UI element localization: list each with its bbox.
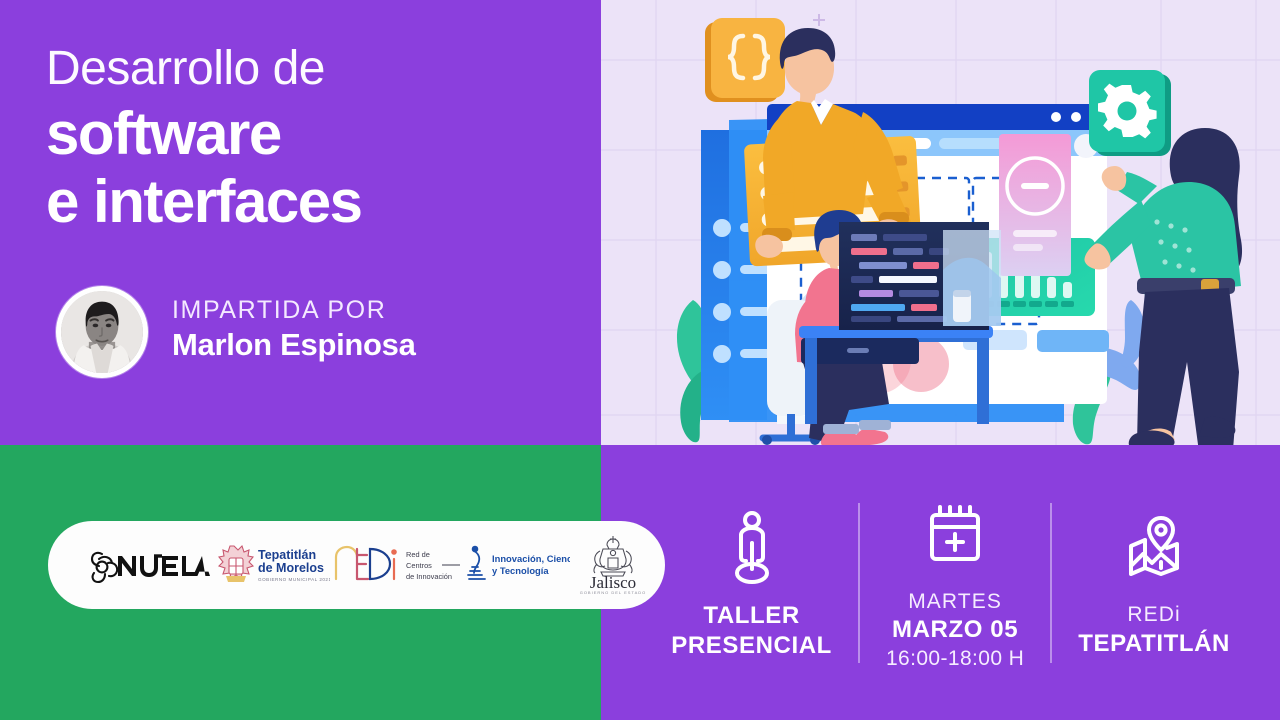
svg-text:Innovación, Ciencia: Innovación, Ciencia — [492, 553, 570, 564]
svg-text:GOBIERNO DEL ESTADO: GOBIERNO DEL ESTADO — [580, 590, 647, 595]
headline-line-2: software — [46, 100, 586, 167]
detail-date: MARTES MARZO 05 16:00-18:00 H — [860, 493, 1050, 673]
svg-text:Red de: Red de — [406, 550, 430, 559]
detail-date-text: MARTES MARZO 05 16:00-18:00 H — [886, 589, 1024, 673]
logo-innovacion-ciencia-tecnologia: Innovación, Ciencia y Tecnología — [462, 545, 570, 585]
detail-modality: TALLER PRESENCIAL — [645, 505, 858, 661]
avatar-photo — [61, 291, 143, 373]
logo-jalisco: Jalisco GOBIERNO DEL ESTADO — [570, 534, 656, 596]
detail-location-city: TEPATITLÁN — [1078, 629, 1230, 659]
event-poster: Desarrollo de software e interfaces — [0, 0, 1280, 720]
map-pin-icon — [1123, 506, 1185, 592]
headline-block: Desarrollo de software e interfaces — [46, 44, 586, 235]
presenter-name: Marlon Espinosa — [172, 326, 416, 365]
presenter-text: IMPARTIDA POR Marlon Espinosa — [172, 297, 416, 367]
presenter-block: IMPARTIDA POR Marlon Espinosa — [56, 286, 416, 378]
logo-nuclea — [82, 545, 214, 585]
calendar-icon — [924, 493, 986, 579]
svg-text:y Tecnología: y Tecnología — [492, 565, 549, 576]
event-details-row: TALLER PRESENCIAL MARTES MARZO 05 — [601, 445, 1280, 720]
detail-date-day: MARZO 05 — [886, 615, 1024, 645]
detail-modality-line-1: TALLER — [671, 601, 832, 631]
svg-text:de Morelos: de Morelos — [258, 561, 324, 575]
title-panel: Desarrollo de software e interfaces — [0, 0, 601, 445]
headline-line-3: e interfaces — [46, 168, 586, 235]
person-standing-icon — [720, 505, 784, 591]
headline-line-1: Desarrollo de — [46, 44, 586, 94]
svg-text:GOBIERNO MUNICIPAL 2021 - 2024: GOBIERNO MUNICIPAL 2021 - 2024 — [258, 577, 330, 582]
svg-text:Tepatitlán: Tepatitlán — [258, 548, 316, 562]
presenter-kicker: IMPARTIDA POR — [172, 297, 416, 325]
avatar — [56, 286, 148, 378]
software-development-teamwork-illustration — [601, 0, 1280, 445]
detail-location-text: REDi TEPATITLÁN — [1078, 602, 1230, 658]
detail-location-venue: REDi — [1078, 602, 1230, 628]
svg-text:Centros: Centros — [406, 561, 432, 570]
detail-location: REDi TEPATITLÁN — [1052, 506, 1256, 658]
sponsor-logo-bar: Tepatitlán de Morelos GOBIERNO MUNICIPAL… — [48, 521, 665, 609]
braces-badge — [705, 18, 785, 102]
gear-badge — [1089, 70, 1171, 156]
svg-text:de Innovación: de Innovación — [406, 572, 452, 581]
detail-date-time: 16:00-18:00 H — [886, 645, 1024, 672]
logo-tepatitlan-de-morelos: Tepatitlán de Morelos GOBIERNO MUNICIPAL… — [214, 541, 330, 589]
detail-date-weekday: MARTES — [886, 589, 1024, 615]
detail-modality-text: TALLER PRESENCIAL — [671, 601, 832, 661]
logo-redi: Red de Centros de Innovación — [330, 541, 462, 589]
illustration-panel — [601, 0, 1280, 445]
detail-modality-line-2: PRESENCIAL — [671, 631, 832, 661]
